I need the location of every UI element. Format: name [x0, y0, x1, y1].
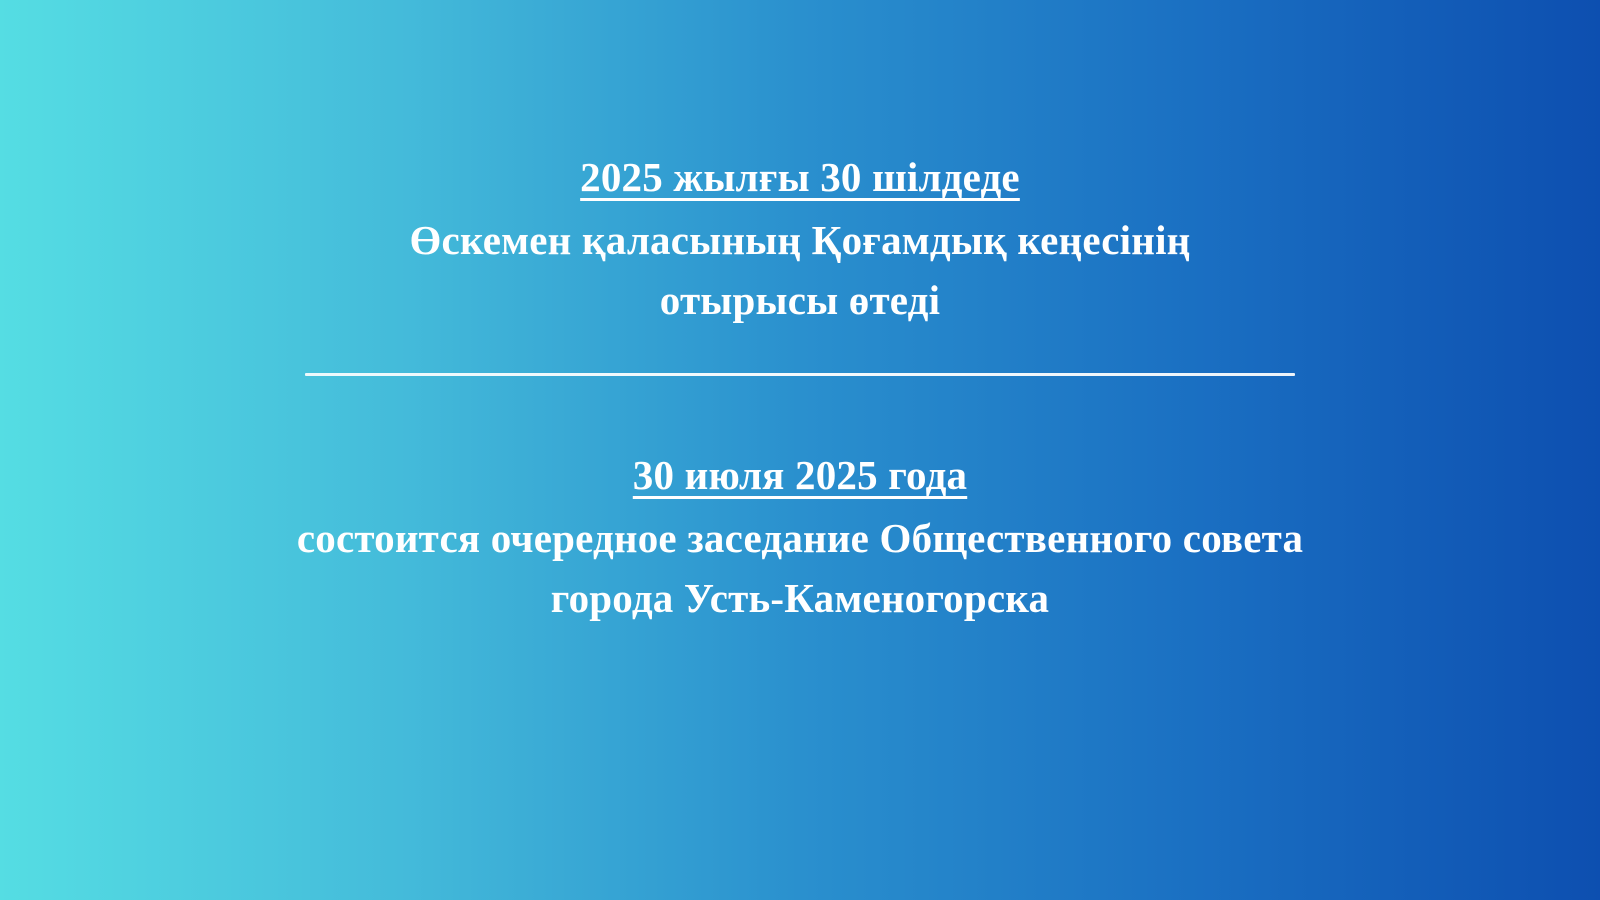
section-divider: [305, 373, 1295, 376]
kazakh-body-line-2: отырысы өтеді: [0, 270, 1600, 330]
divider-container: [0, 373, 1600, 376]
russian-body-line-2: города Усть-Каменогорска: [0, 568, 1600, 628]
russian-announcement-block: 30 июля 2025 года состоится очередное за…: [0, 446, 1600, 628]
russian-body-line-1: состоится очередное заседание Общественн…: [0, 508, 1600, 568]
russian-date-heading: 30 июля 2025 года: [0, 446, 1600, 504]
kazakh-body-line-1: Өскемен қаласының Қоғамдық кеңесінің: [0, 210, 1600, 270]
announcement-slide: 2025 жылғы 30 шілдеде Өскемен қаласының …: [0, 0, 1600, 900]
kazakh-date-heading: 2025 жылғы 30 шілдеде: [0, 148, 1600, 206]
kazakh-announcement-block: 2025 жылғы 30 шілдеде Өскемен қаласының …: [0, 148, 1600, 330]
